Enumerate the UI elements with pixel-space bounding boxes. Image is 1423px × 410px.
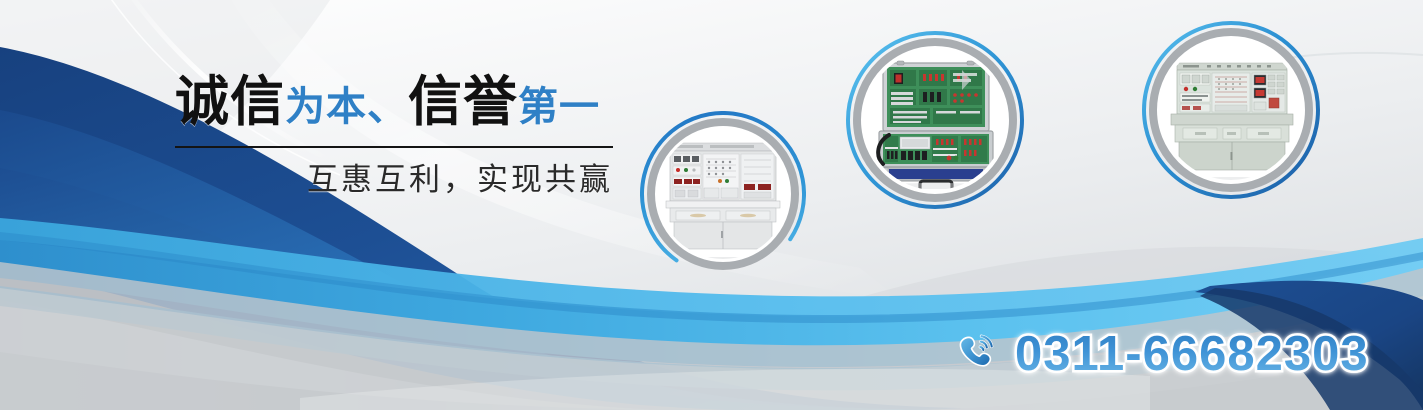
slogan-block: 诚信为本、信誉第一 互惠互利，实现共赢 — [175, 72, 635, 198]
headline-part-1: 诚信 — [175, 72, 285, 132]
product-circle-3-frame — [1141, 20, 1321, 200]
phone-call-icon[interactable] — [955, 331, 1001, 377]
headline-part-3: 信誉 — [408, 72, 518, 132]
product-circle-2-frame — [845, 30, 1025, 210]
product-circle-3[interactable] — [1141, 20, 1321, 200]
product-circle-2[interactable] — [845, 30, 1025, 210]
promotional-banner: 诚信为本、信誉第一 互惠互利，实现共赢 — [0, 0, 1423, 410]
headline-part-4: 第一 — [518, 85, 600, 129]
headline-part-2: 为本、 — [285, 85, 408, 129]
product-circle-1[interactable] — [640, 111, 806, 277]
headline-divider — [175, 146, 613, 148]
subtitle: 互惠互利，实现共赢 — [175, 162, 613, 198]
contact-block[interactable]: 0311-66682303 0311-66682303 — [955, 328, 1369, 380]
phone-number-wrap[interactable]: 0311-66682303 0311-66682303 — [1015, 328, 1369, 380]
phone-number[interactable]: 0311-66682303 — [1015, 328, 1369, 380]
product-circle-1-frame — [640, 111, 806, 277]
headline: 诚信为本、信誉第一 — [175, 72, 635, 137]
